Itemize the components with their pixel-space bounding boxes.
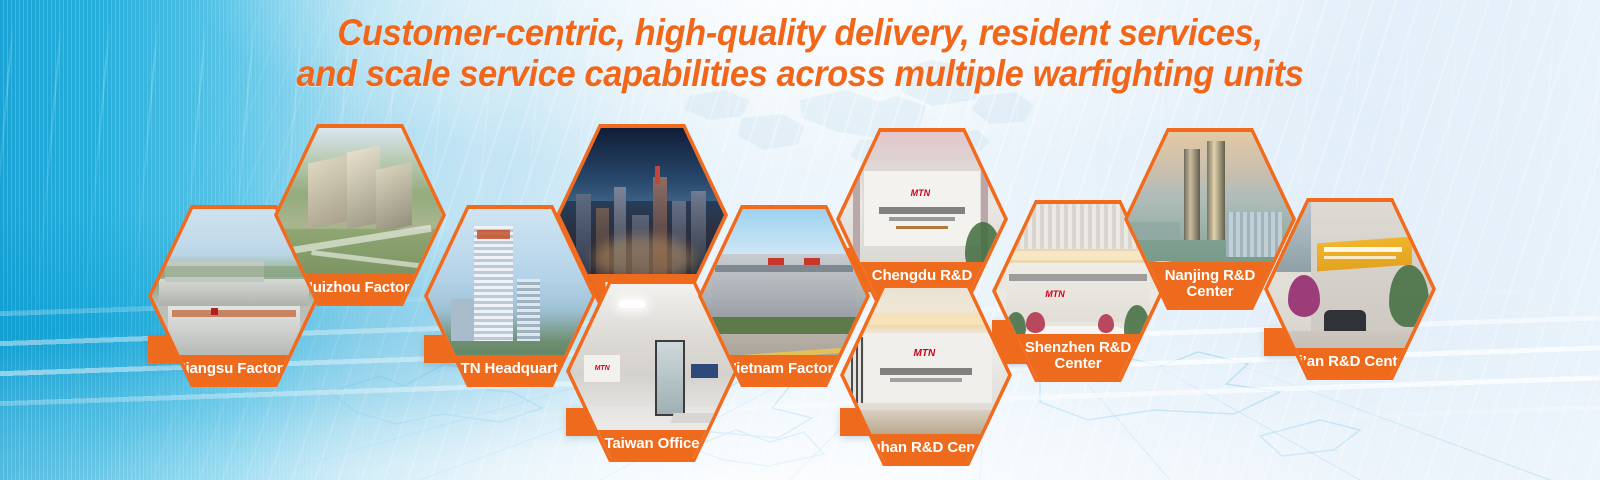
banner-headline: Customer-centric, high-quality delivery,… bbox=[56, 12, 1544, 95]
label-wuhan-rd-center: Wuhan R&D Center bbox=[844, 434, 1008, 462]
hex-wuhan-rd-center[interactable]: MTN Wuhan R&D Center bbox=[840, 284, 1012, 466]
company-locations-banner: Customer-centric, high-quality delivery,… bbox=[0, 0, 1600, 480]
headline-line-1: Customer-centric, high-quality delivery,… bbox=[56, 12, 1544, 53]
headline-line-2: and scale service capabilities across mu… bbox=[56, 53, 1544, 94]
